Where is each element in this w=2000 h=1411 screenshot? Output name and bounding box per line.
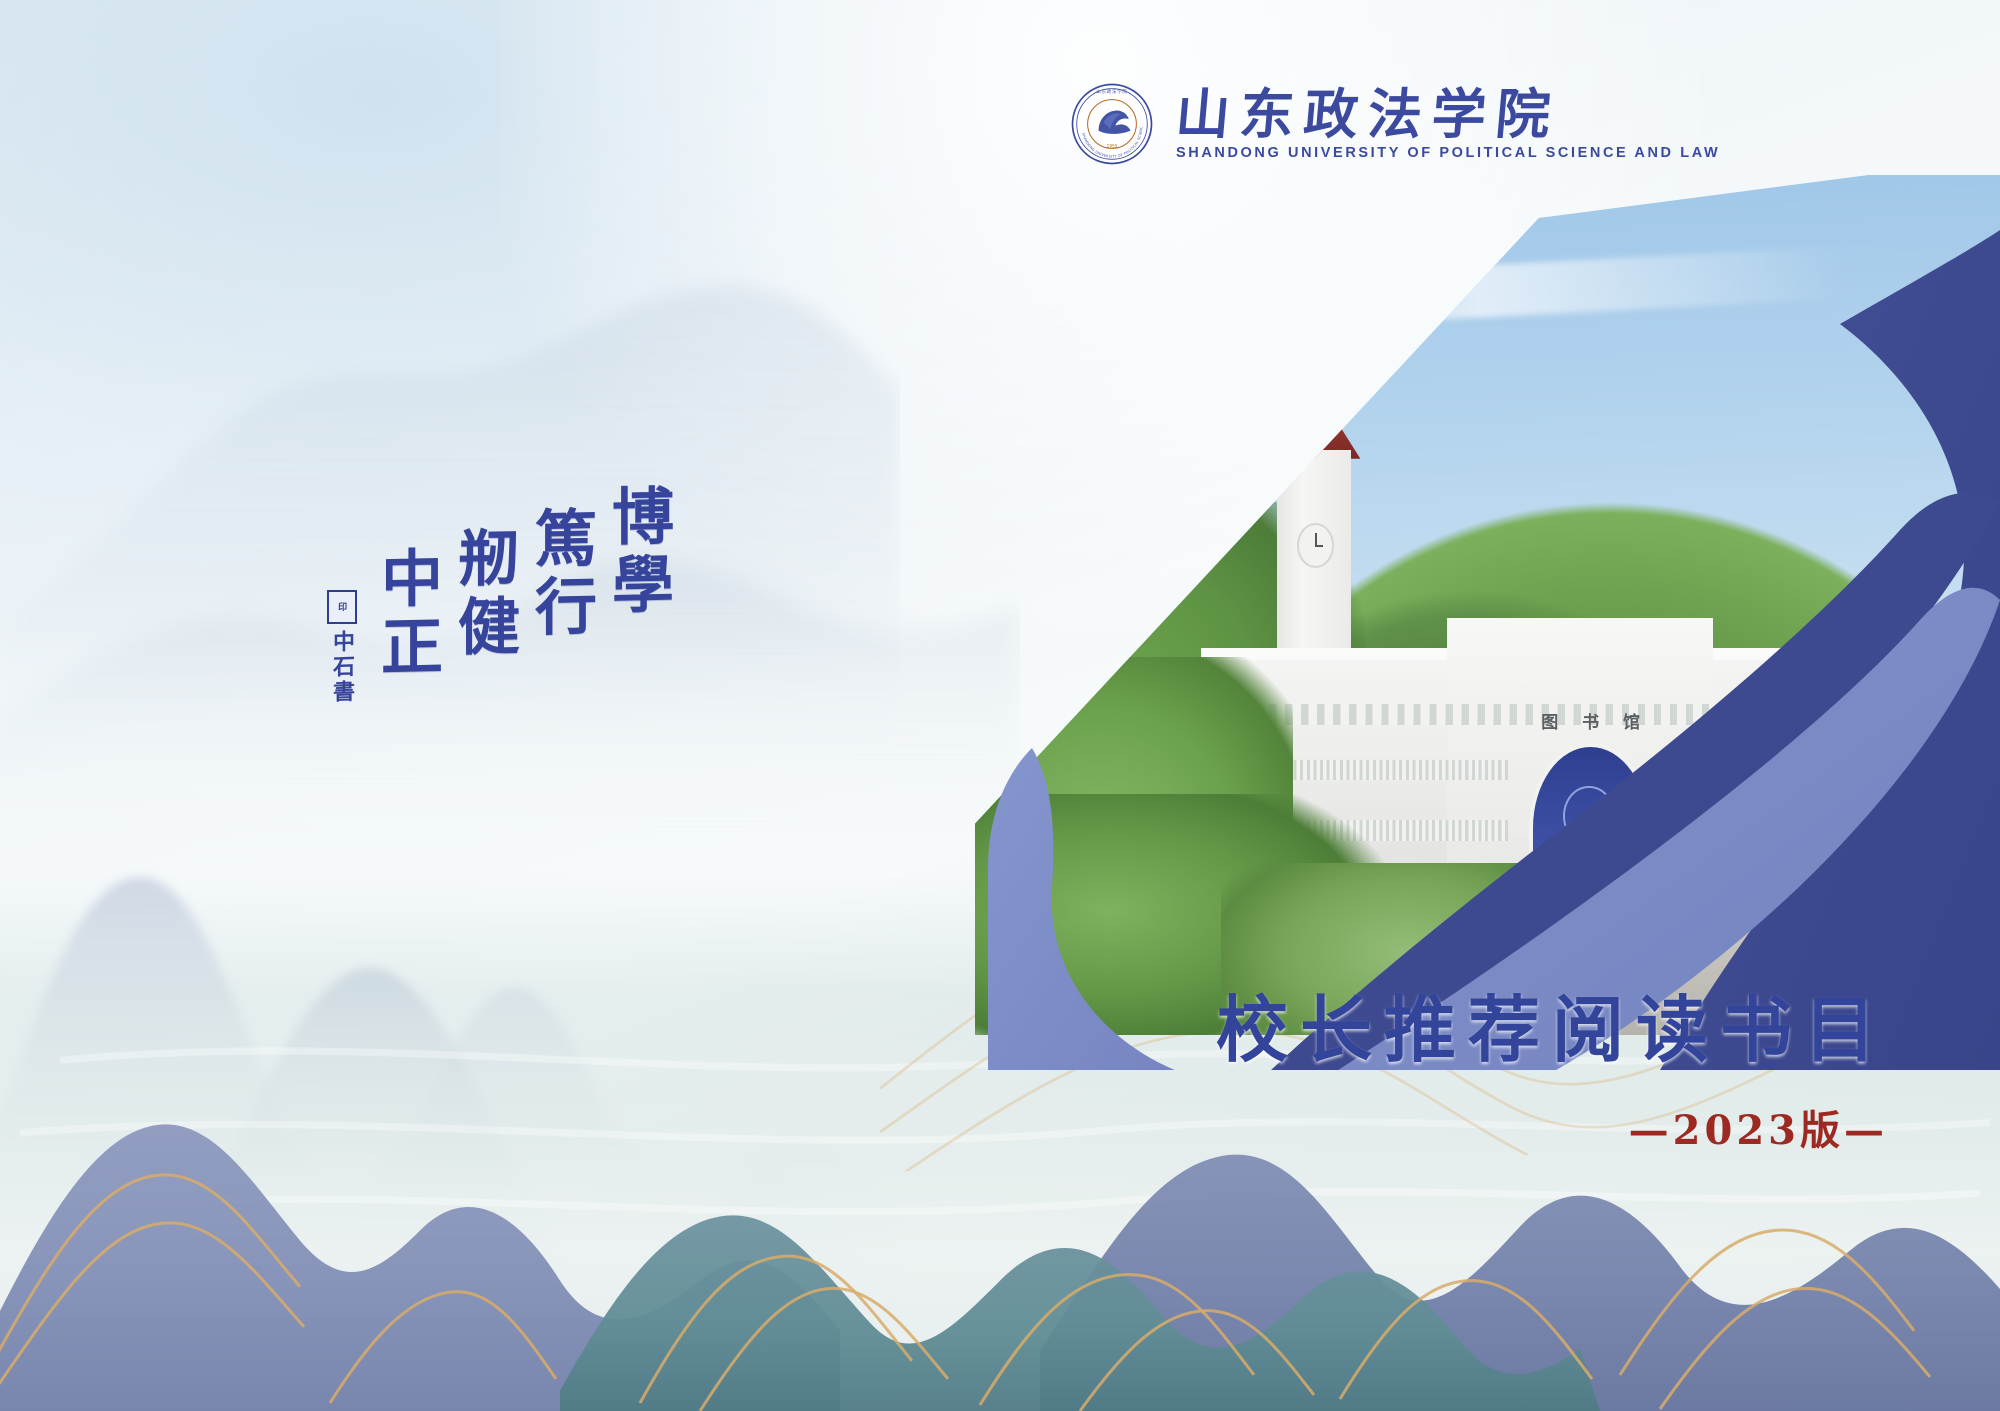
edition-badge: —2023版— bbox=[1216, 1098, 1888, 1156]
university-name-cn: 山东政法学院 bbox=[1174, 87, 1723, 141]
cover-page: 图 书 馆 bbox=[0, 0, 2000, 1411]
motto-column-4: 中正 bbox=[372, 545, 439, 682]
signature-text: 中石書 bbox=[326, 629, 358, 705]
motto-column-1: 博學 bbox=[603, 483, 670, 620]
library-sign-text: 图 书 馆 bbox=[1518, 708, 1672, 733]
calligrapher-signature: 印 中石書 bbox=[326, 590, 358, 705]
brand-lockup: 1955 山东政法学院 SHANDONG UNIVERSITY OF POLIT… bbox=[1070, 82, 1720, 166]
clock-tower-face-icon bbox=[1297, 523, 1334, 568]
university-crest-dove-icon: 1955 山东政法学院 SHANDONG UNIVERSITY OF POLIT… bbox=[1070, 82, 1154, 166]
calligraphy-motto: 博學 篤行 剏健 中正 印 中石書 bbox=[250, 530, 670, 850]
page-title: 校长推荐阅读书目 bbox=[1216, 992, 1888, 1068]
campus-photo-panel: 图 书 馆 bbox=[975, 175, 2000, 1035]
motto-column-3: 剏健 bbox=[449, 525, 516, 662]
seal-stamp-icon: 印 bbox=[327, 590, 357, 624]
university-name-en: SHANDONG UNIVERSITY OF POLITICAL SCIENCE… bbox=[1176, 145, 1720, 161]
motto-column-2: 篤行 bbox=[526, 505, 593, 642]
cover-title-block: 校长推荐阅读书目 —2023版— bbox=[1216, 992, 1888, 1156]
svg-text:1955: 1955 bbox=[1107, 144, 1118, 149]
